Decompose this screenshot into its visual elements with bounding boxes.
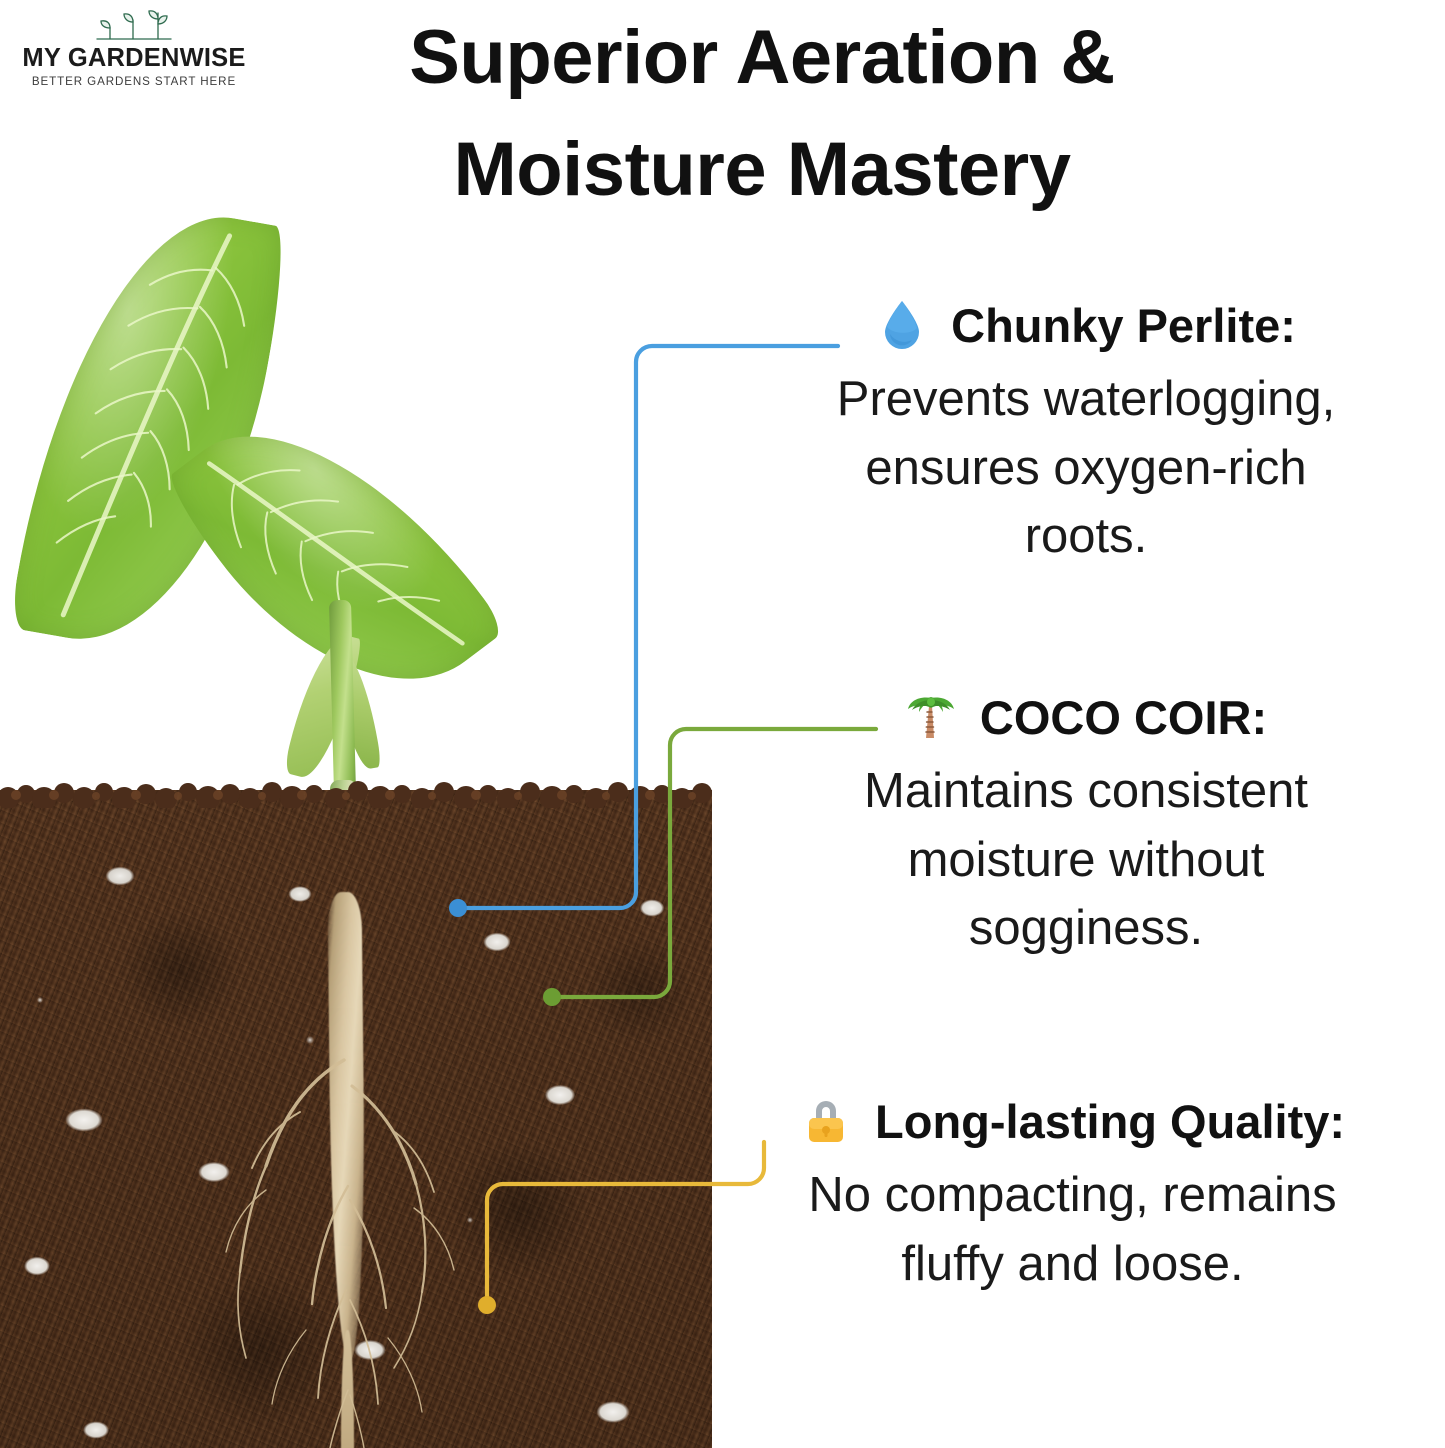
feature-quality-body-line-2: fluffy and loose.: [700, 1230, 1445, 1299]
feature-coir: COCO COIR: Maintains consistent moisture…: [727, 690, 1445, 963]
feature-quality-body-line-1: No compacting, remains: [700, 1161, 1445, 1230]
feature-coir-body-line-3: sogginess.: [727, 894, 1445, 963]
feature-perlite-body-line-2: ensures oxygen-rich: [727, 434, 1445, 503]
title-line-1: Superior Aeration &: [262, 2, 1262, 114]
palm-tree-icon: [905, 690, 957, 742]
brand-tagline: BETTER GARDENS START HERE: [14, 75, 254, 89]
feature-quality-body: No compacting, remains fluffy and loose.: [700, 1161, 1445, 1298]
feature-perlite-heading: Chunky Perlite:: [727, 298, 1445, 353]
infographic-page: MY GARDENWISE BETTER GARDENS START HERE …: [0, 0, 1445, 1448]
water-drop-icon: [876, 298, 928, 350]
seedling-soil-photo: [0, 180, 712, 1448]
feature-perlite-body-line-1: Prevents waterlogging,: [727, 365, 1445, 434]
feature-perlite: Chunky Perlite: Prevents waterlogging, e…: [727, 298, 1445, 571]
lock-icon: [800, 1094, 852, 1146]
brand-name: MY GARDENWISE: [14, 45, 254, 72]
feature-perlite-heading-text: Chunky Perlite:: [951, 299, 1296, 352]
feature-coir-body-line-2: moisture without: [727, 826, 1445, 895]
feature-quality-heading-text: Long-lasting Quality:: [875, 1095, 1345, 1148]
feature-coir-body-line-1: Maintains consistent: [727, 757, 1445, 826]
three-sprouts-icon: [88, 6, 180, 44]
brand-logo: MY GARDENWISE BETTER GARDENS START HERE: [14, 6, 254, 90]
feature-coir-heading: COCO COIR:: [727, 690, 1445, 745]
feature-perlite-body-line-3: roots.: [727, 502, 1445, 571]
feature-quality-heading: Long-lasting Quality:: [700, 1094, 1445, 1149]
feature-coir-heading-text: COCO COIR:: [980, 691, 1267, 744]
feature-coir-body: Maintains consistent moisture without so…: [727, 757, 1445, 963]
root-hairs: [0, 180, 712, 1448]
feature-quality: Long-lasting Quality: No compacting, rem…: [700, 1094, 1445, 1298]
feature-perlite-body: Prevents waterlogging, ensures oxygen-ri…: [727, 365, 1445, 571]
